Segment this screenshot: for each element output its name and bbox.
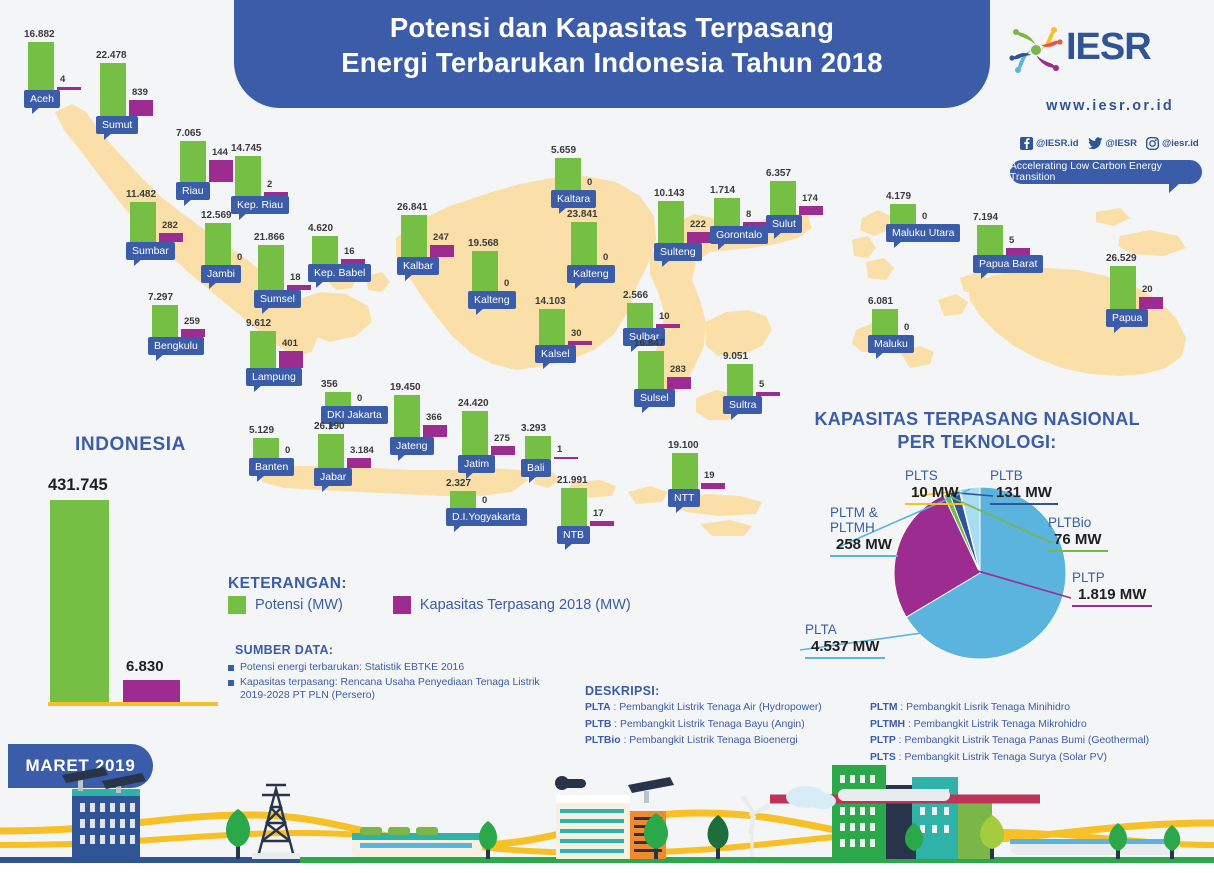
province-kapasitas-value: 10 bbox=[659, 311, 670, 322]
province-label: Jambi bbox=[201, 265, 241, 283]
header-banner: Potensi dan Kapasitas Terpasang Energi T… bbox=[234, 0, 990, 108]
province-potensi-bar bbox=[205, 223, 231, 265]
legend-label-kapasitas: Kapasitas Terpasang 2018 (MW) bbox=[420, 597, 631, 613]
province-label: Kep. Babel bbox=[308, 264, 371, 282]
province-potensi-value: 9.051 bbox=[723, 351, 748, 362]
province-label: Bengkulu bbox=[148, 337, 204, 355]
description-item: PLTM : Pembangkit Lisrik Tenaga Minihidr… bbox=[870, 700, 1149, 717]
pie-callout-label: PLTB bbox=[990, 468, 1023, 483]
description-text: : Pembangkit Listrik Tenaga Panas Bumi (… bbox=[896, 735, 1149, 746]
province-kapasitas-value: 0 bbox=[922, 211, 927, 222]
description-text: : Pembangkit Lisrik Tenaga Minihidro bbox=[898, 702, 1071, 713]
province-kapasitas-value: 0 bbox=[904, 322, 909, 333]
pie-chart-title: KAPASITAS TERPASANG NASIONAL PER TEKNOLO… bbox=[812, 408, 1142, 454]
province-kapasitas-value: 222 bbox=[690, 219, 706, 230]
instagram-link[interactable]: @iesr.id bbox=[1146, 137, 1199, 150]
province-potensi-value: 2.327 bbox=[446, 478, 471, 489]
province-label: Maluku bbox=[868, 335, 914, 353]
province-potensi-bar bbox=[180, 141, 206, 182]
province-kapasitas-value: 0 bbox=[357, 393, 362, 404]
province-label: Sulteng bbox=[654, 243, 702, 261]
description-item: PLTP : Pembangkit Listrik Tenaga Panas B… bbox=[870, 733, 1149, 750]
facebook-handle: @IESR.id bbox=[1036, 138, 1079, 149]
province-potensi-value: 3.293 bbox=[521, 423, 546, 434]
province-potensi-value: 356 bbox=[321, 379, 338, 390]
pie-callout-pltp: PLTP1.819 MW bbox=[1072, 570, 1152, 607]
pie-callout-plts: PLTS10 MW bbox=[905, 468, 965, 505]
pie-title-line-2: PER TEKNOLOGI: bbox=[897, 432, 1056, 452]
province-kapasitas-bar bbox=[279, 351, 303, 368]
province-potensi-bar bbox=[28, 42, 54, 90]
province-potensi-value: 6.081 bbox=[868, 296, 893, 307]
province-kapasitas-bar bbox=[430, 245, 454, 257]
province-potensi-value: 9.612 bbox=[246, 318, 271, 329]
province-potensi-bar bbox=[100, 63, 126, 116]
province-potensi-value: 24.420 bbox=[458, 398, 489, 409]
description-text: : Pembangkit Listrik Tenaga Air (Hydropo… bbox=[611, 702, 822, 713]
legend-label-potensi: Potensi (MW) bbox=[255, 597, 343, 613]
twitter-link[interactable]: @IESR bbox=[1088, 137, 1137, 150]
province-label: D.I.Yogyakarta bbox=[446, 508, 527, 526]
pie-callout-plta: PLTA4.537 MW bbox=[805, 622, 885, 659]
pie-callout-value: 131 MW bbox=[990, 483, 1058, 505]
province-label: Aceh bbox=[24, 90, 60, 108]
province-potensi-bar bbox=[130, 202, 156, 242]
legend-items: Potensi (MW) Kapasitas Terpasang 2018 (M… bbox=[228, 596, 631, 614]
brand-block: IESR bbox=[1008, 22, 1208, 78]
province-potensi-bar bbox=[152, 305, 178, 337]
province-label: Kalsel bbox=[535, 345, 576, 363]
twitter-handle: @IESR bbox=[1106, 138, 1137, 149]
legend-swatch-potensi bbox=[228, 596, 246, 614]
province-kapasitas-bar bbox=[1006, 248, 1030, 255]
province-potensi-bar bbox=[253, 438, 279, 458]
province-kapasitas-value: 16 bbox=[344, 246, 355, 257]
province-label: Kalteng bbox=[567, 265, 615, 283]
province-potensi-bar bbox=[258, 245, 284, 290]
pie-callout-label: PLTS bbox=[905, 468, 938, 483]
pie-callout-label: PLTM & PLTMH bbox=[830, 505, 878, 535]
pie-callout-pltm-pltmh: PLTM & PLTMH258 MW bbox=[830, 505, 898, 557]
province-kapasitas-value: 2 bbox=[267, 179, 272, 190]
province-kapasitas-value: 3.184 bbox=[350, 445, 374, 456]
province-kapasitas-value: 8 bbox=[746, 209, 751, 220]
iesr-logo-icon bbox=[1008, 22, 1064, 78]
description-abbr: PLTM bbox=[870, 702, 898, 713]
province-potensi-value: 21.866 bbox=[254, 232, 285, 243]
province-kapasitas-bar bbox=[667, 377, 691, 389]
province-kapasitas-value: 174 bbox=[802, 193, 818, 204]
pie-callout-value: 4.537 MW bbox=[805, 637, 885, 659]
province-potensi-value: 7.194 bbox=[973, 212, 998, 223]
province-kapasitas-value: 5 bbox=[1009, 235, 1014, 246]
province-kapasitas-bar bbox=[57, 87, 81, 90]
province-potensi-bar bbox=[318, 434, 344, 468]
description-item: PLTBio : Pembangkit Listrik Tenaga Bioen… bbox=[585, 733, 822, 750]
province-potensi-value: 7.297 bbox=[148, 292, 173, 303]
province-potensi-bar bbox=[770, 181, 796, 215]
description-item: PLTB : Pembangkit Listrik Tenaga Bayu (A… bbox=[585, 717, 822, 734]
province-potensi-bar bbox=[727, 364, 753, 396]
province-kapasitas-bar bbox=[209, 160, 233, 182]
province-potensi-bar bbox=[672, 453, 698, 489]
instagram-icon bbox=[1146, 137, 1159, 150]
province-potensi-value: 7.065 bbox=[176, 128, 201, 139]
source-title: SUMBER DATA: bbox=[235, 643, 333, 657]
province-kapasitas-value: 839 bbox=[132, 87, 148, 98]
province-potensi-value: 16.882 bbox=[24, 29, 55, 40]
province-potensi-bar bbox=[312, 236, 338, 264]
description-item: PLTA : Pembangkit Listrik Tenaga Air (Hy… bbox=[585, 700, 822, 717]
description-text: : Pembangkit Listrik Tenaga Mikrohidro bbox=[905, 719, 1087, 730]
legend-item-potensi: Potensi (MW) bbox=[228, 596, 343, 614]
province-potensi-bar bbox=[571, 222, 597, 265]
province-potensi-value: 4.179 bbox=[886, 191, 911, 202]
province-potensi-value: 12.569 bbox=[201, 210, 232, 221]
description-abbr: PLTP bbox=[870, 735, 896, 746]
province-kapasitas-value: 4 bbox=[60, 74, 65, 85]
infographic-canvas: Potensi dan Kapasitas Terpasang Energi T… bbox=[0, 0, 1214, 873]
province-potensi-value: 1.714 bbox=[710, 185, 735, 196]
facebook-icon bbox=[1020, 137, 1033, 150]
province-kapasitas-bar bbox=[181, 329, 205, 337]
facebook-link[interactable]: @IESR.id bbox=[1020, 137, 1079, 150]
description-abbr: PLTBio bbox=[585, 735, 621, 746]
pie-callout-label: PLTP bbox=[1072, 570, 1105, 585]
pie-callout-label: PLTBio bbox=[1048, 515, 1091, 530]
province-kapasitas-bar bbox=[687, 232, 711, 243]
province-label: Kalteng bbox=[468, 291, 516, 309]
pie-title-line-1: KAPASITAS TERPASANG NASIONAL bbox=[814, 409, 1139, 429]
social-links: @IESR.id @IESR @iesr.id bbox=[1020, 134, 1205, 152]
province-kapasitas-value: 19 bbox=[704, 470, 715, 481]
province-label: Sulsel bbox=[634, 389, 675, 407]
province-potensi-value: 26.841 bbox=[397, 202, 428, 213]
province-kapasitas-bar bbox=[159, 233, 183, 242]
province-kapasitas-bar bbox=[590, 521, 614, 526]
province-kapasitas-value: 1 bbox=[557, 444, 562, 455]
province-potensi-bar bbox=[627, 303, 653, 328]
description-item: PLTMH : Pembangkit Listrik Tenaga Mikroh… bbox=[870, 717, 1149, 734]
province-kapasitas-value: 5 bbox=[759, 379, 764, 390]
province-kapasitas-bar bbox=[423, 425, 447, 437]
province-potensi-value: 23.841 bbox=[567, 209, 598, 220]
province-kapasitas-bar bbox=[129, 100, 153, 116]
province-potensi-bar bbox=[539, 309, 565, 345]
national-potensi-bar bbox=[50, 500, 109, 705]
twitter-icon bbox=[1088, 137, 1103, 150]
instagram-handle: @iesr.id bbox=[1162, 138, 1199, 149]
pie-callout-value: 10 MW bbox=[905, 483, 965, 505]
province-potensi-bar bbox=[472, 251, 498, 291]
province-potensi-bar bbox=[872, 309, 898, 335]
source-list: Potensi energi terbarukan: Statistik EBT… bbox=[228, 661, 568, 704]
pie-callout-value: 76 MW bbox=[1048, 530, 1108, 552]
province-kapasitas-value: 18 bbox=[290, 272, 301, 283]
province-kapasitas-value: 20 bbox=[1142, 284, 1153, 295]
province-kapasitas-value: 0 bbox=[285, 445, 290, 456]
province-label: Sumbar bbox=[126, 242, 175, 260]
province-kapasitas-value: 30 bbox=[571, 328, 582, 339]
description-text: : Pembangkit Listrik Tenaga Bayu (Angin) bbox=[611, 719, 804, 730]
province-label: NTT bbox=[668, 489, 700, 507]
province-potensi-bar bbox=[450, 491, 476, 508]
province-kapasitas-value: 283 bbox=[670, 364, 686, 375]
province-potensi-bar bbox=[658, 201, 684, 243]
province-kapasitas-bar bbox=[701, 483, 725, 489]
province-kapasitas-value: 275 bbox=[494, 433, 510, 444]
province-potensi-value: 14.745 bbox=[231, 143, 262, 154]
pie-callout-pltbio: PLTBio76 MW bbox=[1048, 515, 1108, 552]
page-title: Potensi dan Kapasitas Terpasang Energi T… bbox=[234, 10, 990, 80]
pie-callout-value: 258 MW bbox=[830, 535, 898, 557]
province-potensi-value: 19.100 bbox=[668, 440, 699, 451]
national-potensi-value: 431.745 bbox=[48, 476, 108, 495]
province-kapasitas-value: 0 bbox=[482, 495, 487, 506]
province-potensi-bar bbox=[325, 392, 351, 406]
province-potensi-value: 19.568 bbox=[468, 238, 499, 249]
province-label: Jabar bbox=[314, 468, 352, 486]
province-kapasitas-bar bbox=[554, 457, 578, 459]
province-potensi-value: 11.482 bbox=[126, 189, 156, 200]
province-potensi-value: 5.129 bbox=[249, 425, 274, 436]
province-label: NTB bbox=[557, 526, 590, 544]
province-potensi-bar bbox=[714, 198, 740, 226]
source-item: Kapasitas terpasang: Rencana Usaha Penye… bbox=[228, 676, 568, 703]
brand-name: IESR bbox=[1066, 26, 1151, 69]
province-kapasitas-bar bbox=[1139, 297, 1163, 309]
province-potensi-value: 26.529 bbox=[1106, 253, 1137, 264]
pie-callout-label: PLTA bbox=[805, 622, 837, 637]
description-column-left: PLTA : Pembangkit Listrik Tenaga Air (Hy… bbox=[585, 700, 822, 750]
legend-title: KETERANGAN: bbox=[228, 575, 347, 593]
province-potensi-value: 10.143 bbox=[654, 188, 685, 199]
province-label: Maluku Utara bbox=[886, 224, 960, 242]
province-potensi-value: 5.659 bbox=[551, 145, 576, 156]
province-label: Jateng bbox=[390, 437, 434, 455]
national-chart-baseline bbox=[48, 702, 218, 706]
province-kapasitas-value: 0 bbox=[603, 252, 608, 263]
province-potensi-value: 16.847 bbox=[634, 338, 665, 349]
province-kapasitas-bar bbox=[347, 458, 371, 468]
province-label: Lampung bbox=[246, 368, 302, 386]
province-kapasitas-value: 247 bbox=[433, 232, 449, 243]
province-kapasitas-value: 366 bbox=[426, 412, 442, 423]
province-label: Bali bbox=[521, 459, 551, 477]
province-potensi-value: 26.190 bbox=[314, 421, 345, 432]
province-label: Papua bbox=[1106, 309, 1148, 327]
province-potensi-bar bbox=[977, 225, 1003, 255]
pie-callout-pltb: PLTB131 MW bbox=[990, 468, 1058, 505]
description-abbr: PLTMH bbox=[870, 719, 905, 730]
province-label: Papua Barat bbox=[973, 255, 1043, 273]
province-potensi-bar bbox=[394, 395, 420, 437]
province-kapasitas-value: 259 bbox=[184, 316, 200, 327]
province-label: Riau bbox=[176, 182, 210, 200]
description-title: DESKRIPSI: bbox=[585, 684, 660, 698]
province-potensi-value: 2.566 bbox=[623, 290, 648, 301]
title-line-1: Potensi dan Kapasitas Terpasang bbox=[234, 10, 990, 45]
province-label: Banten bbox=[249, 458, 294, 476]
province-kapasitas-value: 0 bbox=[504, 278, 509, 289]
website-url[interactable]: www.iesr.or.id bbox=[1015, 98, 1205, 114]
province-potensi-value: 6.357 bbox=[766, 168, 791, 179]
province-potensi-bar bbox=[1110, 266, 1136, 309]
province-potensi-value: 14.103 bbox=[535, 296, 566, 307]
province-potensi-bar bbox=[401, 215, 427, 257]
province-kapasitas-bar bbox=[799, 206, 823, 215]
province-label: Sulut bbox=[766, 215, 802, 233]
province-potensi-bar bbox=[890, 204, 916, 224]
province-potensi-bar bbox=[638, 351, 664, 389]
national-kapasitas-value: 6.830 bbox=[126, 658, 164, 675]
bottom-frame bbox=[0, 863, 1214, 873]
province-potensi-bar bbox=[555, 158, 581, 190]
province-potensi-bar bbox=[250, 331, 276, 368]
province-label: Sumut bbox=[96, 116, 138, 134]
description-abbr: PLTB bbox=[585, 719, 611, 730]
province-kapasitas-value: 0 bbox=[587, 177, 592, 188]
province-label: Kalbar bbox=[397, 257, 439, 275]
province-label: Jatim bbox=[458, 455, 495, 473]
province-potensi-bar bbox=[561, 488, 587, 526]
province-label: Sumsel bbox=[254, 290, 301, 308]
tagline-bubble: Accelerating Low Carbon Energy Transitio… bbox=[1010, 160, 1202, 184]
province-kapasitas-value: 401 bbox=[282, 338, 298, 349]
source-item: Potensi energi terbarukan: Statistik EBT… bbox=[228, 661, 568, 675]
province-label: Gorontalo bbox=[710, 226, 768, 244]
province-potensi-value: 19.450 bbox=[390, 382, 421, 393]
province-kapasitas-value: 144 bbox=[212, 147, 228, 158]
title-line-2: Energi Terbarukan Indonesia Tahun 2018 bbox=[234, 45, 990, 80]
province-kapasitas-value: 17 bbox=[593, 508, 604, 519]
city-illustration bbox=[0, 753, 1214, 873]
province-kapasitas-value: 282 bbox=[162, 220, 178, 231]
province-potensi-value: 21.991 bbox=[557, 475, 588, 486]
province-potensi-value: 4.620 bbox=[308, 223, 333, 234]
province-label: Kaltara bbox=[551, 190, 596, 208]
description-text: : Pembangkit Listrik Tenaga Bioenergi bbox=[621, 735, 798, 746]
description-abbr: PLTA bbox=[585, 702, 611, 713]
province-label: Sultra bbox=[723, 396, 762, 414]
national-bar-chart: 431.745 6.830 bbox=[50, 455, 215, 705]
legend-item-kapasitas: Kapasitas Terpasang 2018 (MW) bbox=[393, 596, 631, 614]
province-potensi-value: 22.478 bbox=[96, 50, 127, 61]
national-chart-title: INDONESIA bbox=[75, 434, 186, 456]
province-potensi-bar bbox=[525, 436, 551, 459]
pie-callout-value: 1.819 MW bbox=[1072, 585, 1152, 607]
province-potensi-bar bbox=[462, 411, 488, 455]
province-potensi-bar bbox=[235, 156, 261, 196]
province-kapasitas-value: 0 bbox=[237, 252, 242, 263]
legend-swatch-kapasitas bbox=[393, 596, 411, 614]
province-label: Kep. Riau bbox=[231, 196, 289, 214]
province-kapasitas-bar bbox=[491, 446, 515, 455]
